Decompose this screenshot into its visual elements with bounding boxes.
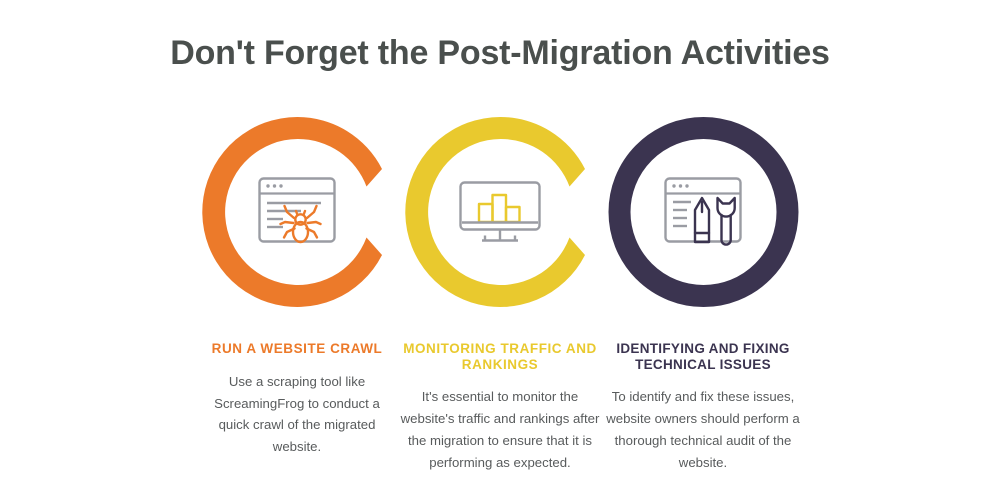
- step-3-caption: IDENTIFYING AND FIXING TECHNICAL ISSUES …: [598, 341, 808, 474]
- step-3-heading: IDENTIFYING AND FIXING TECHNICAL ISSUES: [598, 341, 808, 372]
- step-2-body: It's essential to monitor the website's …: [400, 386, 600, 474]
- browser-window-spider-icon: [249, 170, 345, 254]
- step-1-icon-slot: [249, 170, 345, 254]
- step-2-ring-wrap: [399, 112, 602, 312]
- steps-row: RUN A WEBSITE CRAWL Use a scraping tool …: [0, 112, 1000, 474]
- step-card-monitoring-traffic-and-rankings: MONITORING TRAFFIC AND RANKINGS It's ess…: [399, 112, 602, 474]
- step-1-body: Use a scraping tool like ScreamingFrog t…: [197, 371, 397, 459]
- step-2-icon-slot: [452, 170, 548, 254]
- page-title: Don't Forget the Post-Migration Activiti…: [0, 34, 1000, 73]
- step-2-heading: MONITORING TRAFFIC AND RANKINGS: [400, 341, 600, 372]
- step-3-icon-slot: [655, 170, 751, 254]
- step-card-identifying-and-fixing-technical-issues: IDENTIFYING AND FIXING TECHNICAL ISSUES …: [602, 112, 805, 474]
- step-1-heading: RUN A WEBSITE CRAWL: [197, 341, 397, 357]
- monitor-bar-chart-icon: [452, 170, 548, 254]
- browser-window-pencil-wrench-icon: [655, 170, 751, 254]
- step-1-ring-wrap: [196, 112, 399, 312]
- step-1-caption: RUN A WEBSITE CRAWL Use a scraping tool …: [197, 341, 397, 458]
- post-migration-infographic: Don't Forget the Post-Migration Activiti…: [0, 0, 1000, 500]
- step-2-caption: MONITORING TRAFFIC AND RANKINGS It's ess…: [400, 341, 600, 474]
- step-3-body: To identify and fix these issues, websit…: [598, 386, 808, 474]
- step-card-run-a-website-crawl: RUN A WEBSITE CRAWL Use a scraping tool …: [196, 112, 399, 458]
- step-3-ring-wrap: [602, 112, 805, 312]
